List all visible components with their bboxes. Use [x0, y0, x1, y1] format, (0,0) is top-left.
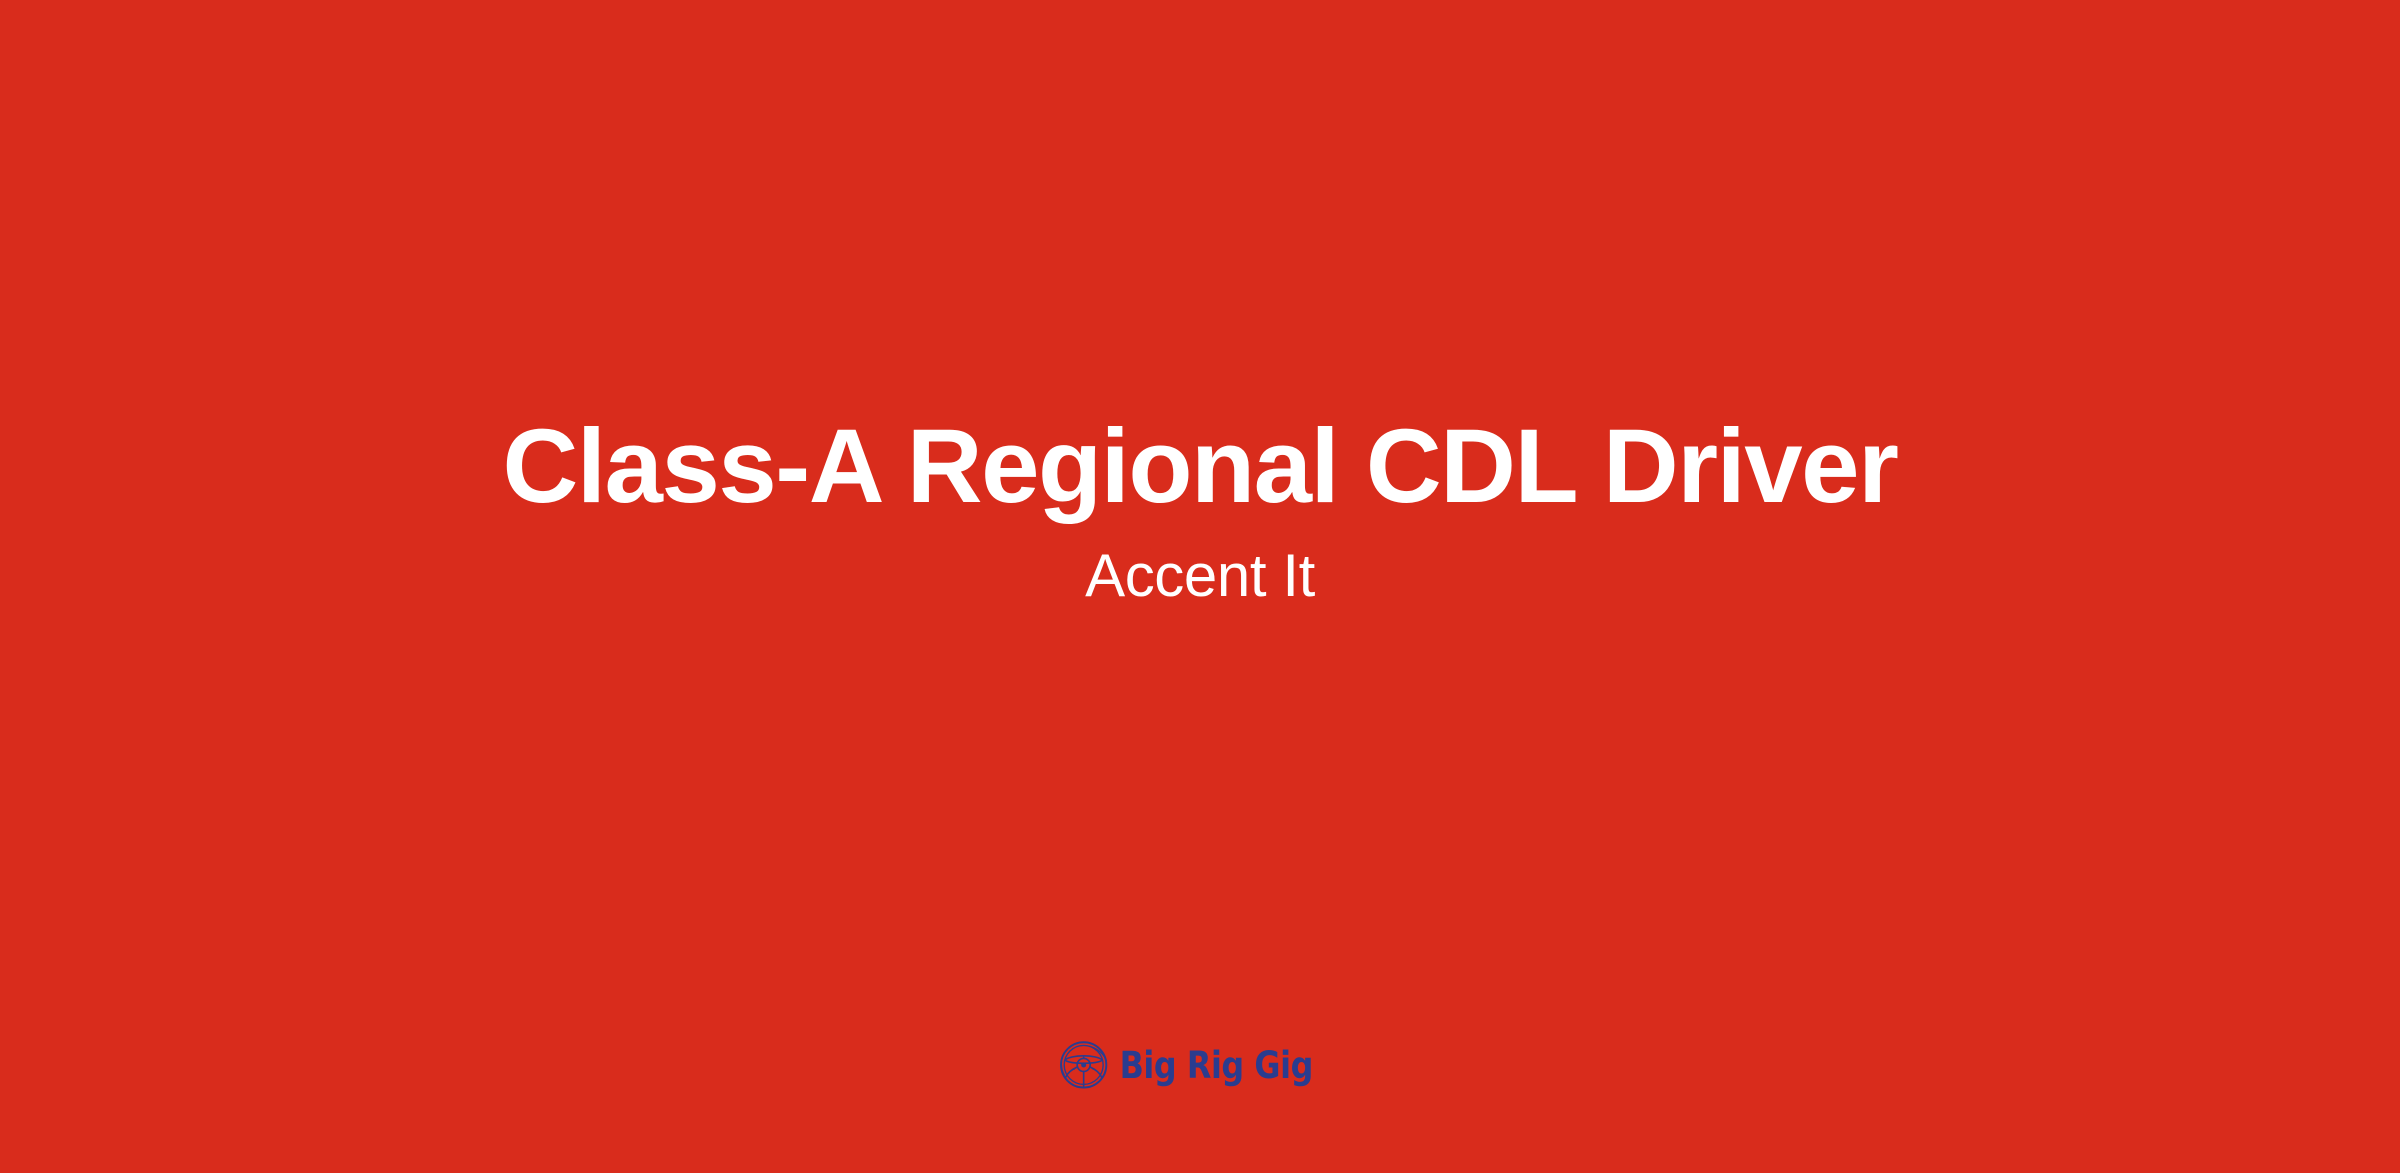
brand-wordmark: Big Rig Gig — [1120, 1045, 1313, 1084]
company-name: Accent It — [1085, 540, 1315, 612]
job-posting-card: Class-A Regional CDL Driver Accent It — [0, 0, 2400, 1173]
brand-lockup: Big Rig Gig — [1056, 1032, 1345, 1096]
headline-block: Class-A Regional CDL Driver Accent It — [0, 0, 2400, 1020]
page-title: Class-A Regional CDL Driver — [503, 408, 1898, 526]
steering-wheel-icon — [1056, 1035, 1114, 1093]
